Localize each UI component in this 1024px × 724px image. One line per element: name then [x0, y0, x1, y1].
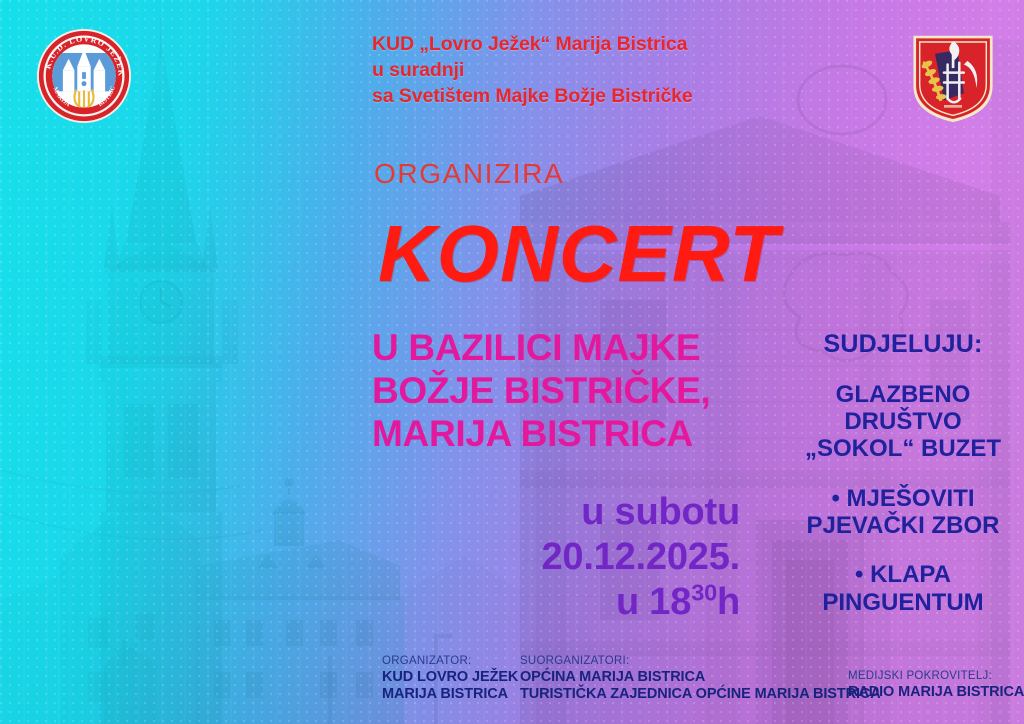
event-time-suffix: h: [717, 581, 740, 623]
credit-coorganizers: SUORGANIZATORI: OPĆINA MARIJA BISTRICA T…: [520, 655, 881, 704]
venue-line-2: BOŽJE BISTRIČKE,: [372, 370, 772, 413]
participant-line: DRUŠTVO: [790, 408, 1016, 435]
participant-line: • MJEŠOVITI: [790, 485, 1016, 512]
credit-name-line: KUD LOVRO JEŽEK: [382, 669, 518, 686]
organizer-header: KUD „Lovro Ježek“ Marija Bistrica u sura…: [372, 32, 792, 110]
kud-lovro-jezek-logo-icon: K.U.D. LOVRO JEŽEK MARIJA BISTRICA: [36, 28, 132, 124]
credit-name: OPĆINA MARIJA BISTRICA TURISTIČKA ZAJEDN…: [520, 669, 881, 704]
credit-name: RADIO MARIJA BISTRICA: [848, 684, 1024, 701]
participant-group: • MJEŠOVITI PJEVAČKI ZBOR: [790, 485, 1016, 540]
participant-line: • KLAPA: [790, 561, 1016, 588]
poster-content: K.U.D. LOVRO JEŽEK MARIJA BISTRICA: [0, 0, 1024, 724]
credit-name-line: TURISTIČKA ZAJEDNICA OPĆINE MARIJA BISTR…: [520, 686, 881, 703]
datetime-block: u subotu 20.12.2025. u 1830h: [400, 490, 740, 624]
credit-kicker: ORGANIZATOR:: [382, 655, 518, 669]
header-line-3: sa Svetištem Majke Božje Bistričke: [372, 84, 792, 110]
credit-kicker: MEDIJSKI POKROVITELJ:: [848, 670, 1024, 684]
participant-group: GLAZBENO DRUŠTVO „SOKOL“ BUZET: [790, 381, 1016, 463]
participant-line: PINGUENTUM: [790, 589, 1016, 616]
concert-poster: K.U.D. LOVRO JEŽEK MARIJA BISTRICA: [0, 0, 1024, 724]
venue-line-3: MARIJA BISTRICA: [372, 413, 772, 456]
event-day: u subotu: [400, 490, 740, 535]
page-title: KONCERT: [378, 216, 779, 292]
credit-name-line: MARIJA BISTRICA: [382, 686, 518, 703]
header-line-2: u suradnji: [372, 58, 792, 84]
participant-line: PJEVAČKI ZBOR: [790, 512, 1016, 539]
venue-line-1: U BAZILICI MAJKE: [372, 327, 772, 370]
participants-block: SUDJELUJU: GLAZBENO DRUŠTVO „SOKOL“ BUZE…: [790, 330, 1016, 616]
organizira-label: ORGANIZIRA: [374, 158, 564, 190]
credit-kicker: SUORGANIZATORI:: [520, 655, 881, 669]
participant-line: „SOKOL“ BUZET: [790, 435, 1016, 462]
venue-block: U BAZILICI MAJKE BOŽJE BISTRIČKE, MARIJA…: [372, 327, 772, 456]
credit-name-line: RADIO MARIJA BISTRICA: [848, 684, 1024, 701]
event-time: u 1830h: [400, 580, 740, 625]
credit-media-sponsor: MEDIJSKI POKROVITELJ: RADIO MARIJA BISTR…: [848, 670, 1024, 701]
event-time-hour: u 18: [616, 581, 691, 623]
credit-name-line: OPĆINA MARIJA BISTRICA: [520, 669, 881, 686]
event-date: 20.12.2025.: [400, 535, 740, 580]
participant-line: GLAZBENO: [790, 381, 1016, 408]
sokol-buzet-crest-icon: [908, 30, 998, 126]
participants-heading: SUDJELUJU:: [790, 330, 1016, 359]
credit-name: KUD LOVRO JEŽEK MARIJA BISTRICA: [382, 669, 518, 704]
participant-group: • KLAPA PINGUENTUM: [790, 561, 1016, 616]
event-time-minutes: 30: [691, 579, 717, 605]
credit-organizer: ORGANIZATOR: KUD LOVRO JEŽEK MARIJA BIST…: [382, 655, 518, 704]
header-line-1: KUD „Lovro Ježek“ Marija Bistrica: [372, 32, 792, 58]
